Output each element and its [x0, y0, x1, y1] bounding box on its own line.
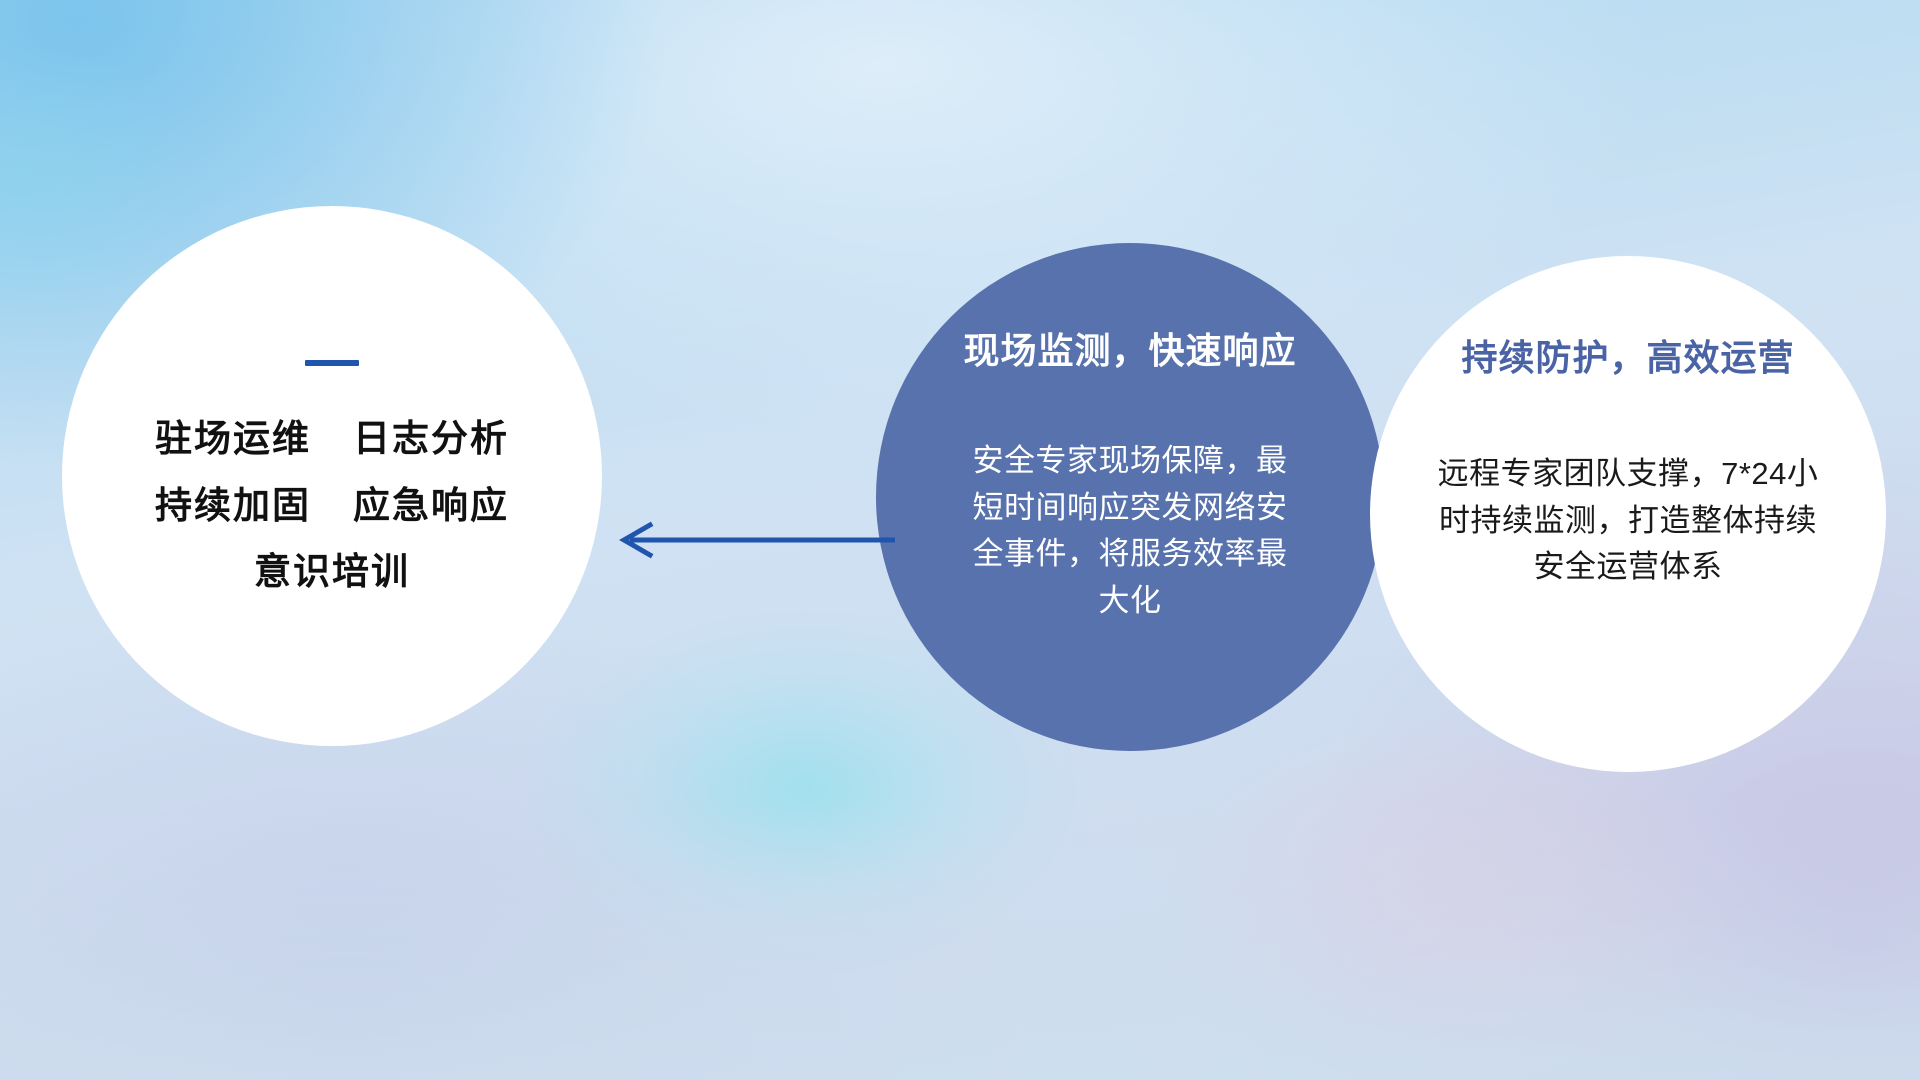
keyword-item: 持续加固: [155, 487, 311, 526]
keyword-row: 持续加固 应急响应: [155, 487, 509, 526]
card-title: 持续防护，高效运营: [1461, 336, 1794, 379]
slide-canvas: 驻场运维 日志分析 持续加固 应急响应 意识培训 现场监测，快速响应 安全专家现…: [0, 0, 1920, 1080]
keyword-grid: 驻场运维 日志分析 持续加固 应急响应 意识培训: [155, 420, 509, 593]
keyword-item: 意识培训: [254, 553, 410, 592]
keyword-item: 日志分析: [353, 420, 509, 459]
keyword-row: 驻场运维 日志分析: [155, 420, 509, 459]
keyword-row: 意识培训: [254, 553, 410, 592]
card-body: 安全专家现场保障，最短时间响应突发网络安全事件，将服务效率最大化: [965, 438, 1295, 624]
card-title: 现场监测，快速响应: [963, 329, 1296, 372]
onsite-monitoring-circle: 现场监测，快速响应 安全专家现场保障，最短时间响应突发网络安全事件，将服务效率最…: [876, 243, 1384, 751]
card-body: 远程专家团队支撑，7*24小时持续监测，打造整体持续安全运营体系: [1428, 451, 1828, 591]
keywords-circle: 驻场运维 日志分析 持续加固 应急响应 意识培训: [62, 206, 602, 746]
continuous-protection-circle: 持续防护，高效运营 远程专家团队支撑，7*24小时持续监测，打造整体持续安全运营…: [1370, 256, 1886, 772]
keyword-item: 驻场运维: [155, 420, 311, 459]
keyword-item: 应急响应: [353, 487, 509, 526]
divider-rule: [305, 360, 359, 366]
left-arrow-icon: [610, 520, 895, 560]
